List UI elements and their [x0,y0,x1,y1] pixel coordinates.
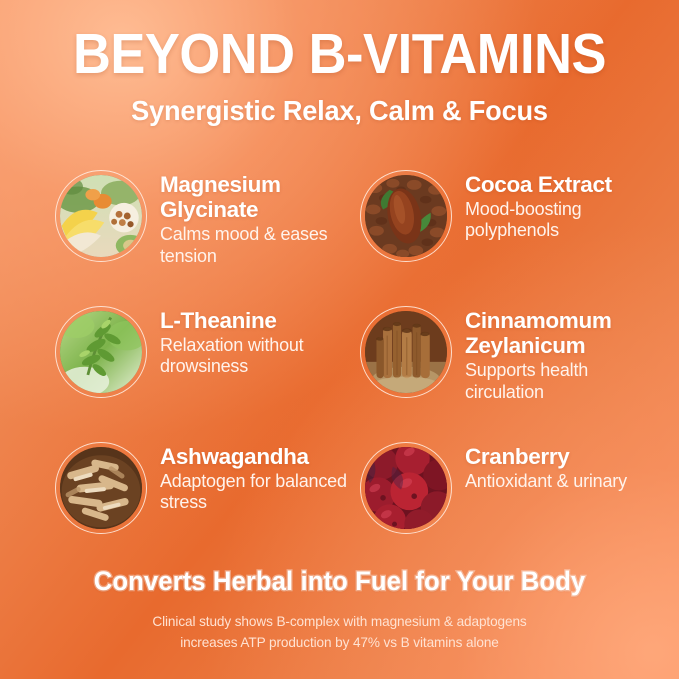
ingredient-title: Cinnamomum Zeylanicum [465,308,655,358]
footer-headline: Converts Herbal into Fuel for Your Body [17,566,662,597]
ingredient-description: Mood-boosting polyphenols [465,199,655,241]
card-text: Ashwagandha Adaptogen for balanced stres… [147,440,360,514]
thumb-ring [360,442,452,534]
ingredient-description: Supports health circulation [465,360,655,402]
l-theanine-image [60,311,142,393]
page-subtitle: Synergistic Relax, Calm & Focus [10,95,669,127]
infographic-frame: BEYOND B-VITAMINS Synergistic Relax, Cal… [0,0,679,679]
ingredient-description: Relaxation without drowsiness [160,335,360,377]
card-text: Magnesium Glycinate Calms mood & eases t… [147,168,360,267]
ingredient-card-cinnamomum-zeylanicum: Cinnamomum Zeylanicum Supports health ci… [360,304,655,440]
ingredient-description: Adaptogen for balanced stress [160,471,360,513]
ingredient-card-magnesium-glycinate: Magnesium Glycinate Calms mood & eases t… [55,168,360,304]
footer-note-line-2: increases ATP production by 47% vs B vit… [0,632,679,653]
ingredient-title: Cranberry [465,444,627,469]
page-title: BEYOND B-VITAMINS [27,26,652,83]
cinnamomum-zeylanicum-image [365,311,447,393]
thumb-ring [360,170,452,262]
card-text: Cinnamomum Zeylanicum Supports health ci… [452,304,655,403]
ingredient-title: Ashwagandha [160,444,360,469]
ashwagandha-image [60,447,142,529]
ingredient-card-l-theanine: L-Theanine Relaxation without drowsiness [55,304,360,440]
ingredient-card-cranberry: Cranberry Antioxidant & urinary [360,440,655,576]
header: BEYOND B-VITAMINS Synergistic Relax, Cal… [0,26,679,127]
ingredient-grid: Magnesium Glycinate Calms mood & eases t… [55,168,655,576]
footer: Converts Herbal into Fuel for Your Body … [0,566,679,653]
ingredient-description: Antioxidant & urinary [465,471,627,492]
magnesium-glycinate-image [60,175,142,257]
cocoa-extract-image [365,175,447,257]
thumb-ring [55,442,147,534]
thumb-ring [55,170,147,262]
cranberry-image [365,447,447,529]
footer-note-line-1: Clinical study shows B-complex with magn… [0,611,679,632]
footer-note: Clinical study shows B-complex with magn… [0,611,679,653]
ingredient-title: Magnesium Glycinate [160,172,360,222]
card-text: Cocoa Extract Mood-boosting polyphenols [452,168,655,242]
ingredient-description: Calms mood & eases tension [160,224,360,266]
ingredient-title: Cocoa Extract [465,172,655,197]
ingredient-title: L-Theanine [160,308,360,333]
thumb-ring [360,306,452,398]
card-text: Cranberry Antioxidant & urinary [452,440,627,492]
ingredient-card-cocoa-extract: Cocoa Extract Mood-boosting polyphenols [360,168,655,304]
thumb-ring [55,306,147,398]
card-text: L-Theanine Relaxation without drowsiness [147,304,360,378]
ingredient-card-ashwagandha: Ashwagandha Adaptogen for balanced stres… [55,440,360,576]
